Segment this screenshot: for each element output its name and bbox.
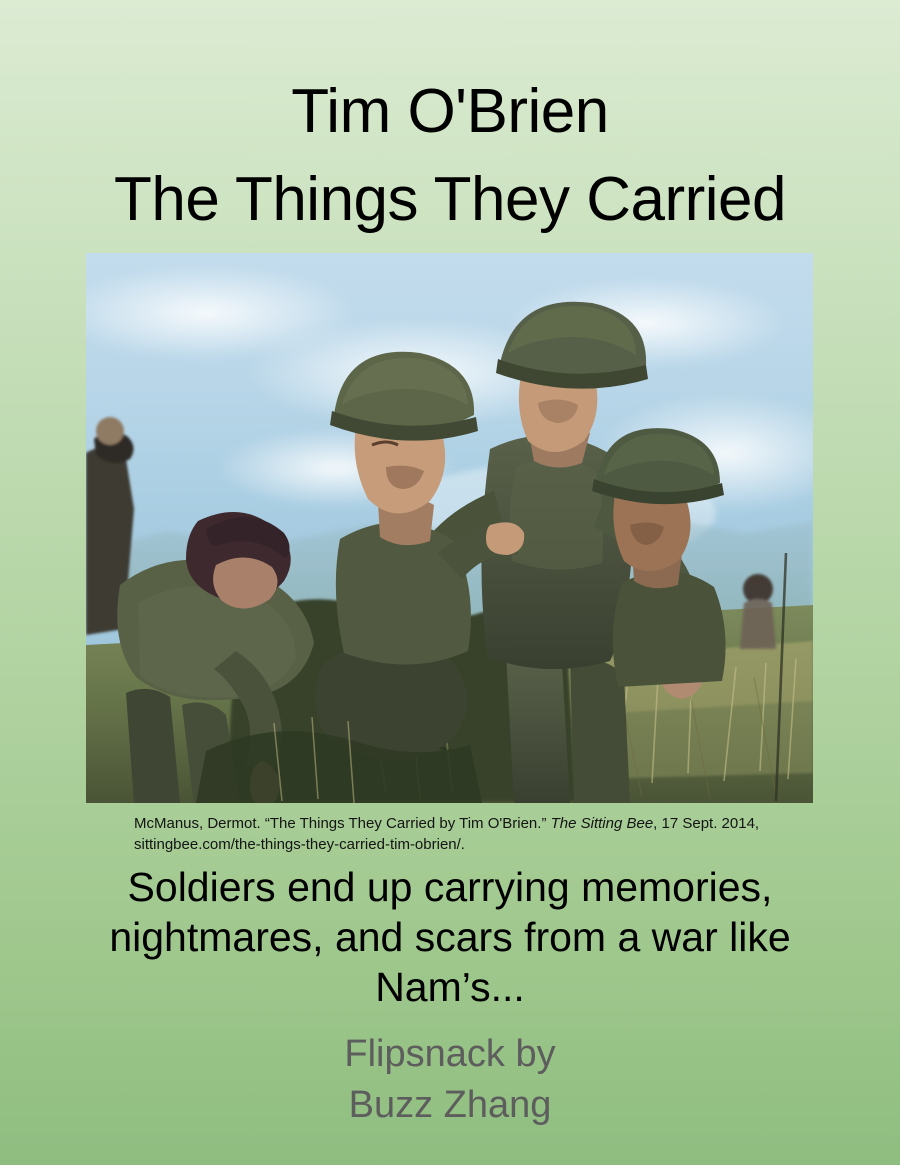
byline-author: Buzz Zhang [0, 1080, 900, 1131]
photo-credit-citation: McManus, Dermot. “The Things They Carrie… [134, 813, 774, 855]
flipbook-cover-page: Tim O'Brien The Things They Carried [0, 0, 900, 1165]
byline: Flipsnack by Buzz Zhang [0, 1029, 900, 1131]
citation-source-title: The Sitting Bee [551, 815, 654, 832]
title-line-book: The Things They Carried [0, 156, 900, 244]
byline-platform: Flipsnack by [0, 1029, 900, 1080]
cover-tagline: Soldiers end up carrying memories, night… [50, 862, 850, 1012]
title-line-author: Tim O'Brien [0, 68, 900, 156]
citation-part-1: McManus, Dermot. “The Things They Carrie… [134, 815, 551, 832]
cover-photo-illustration [86, 253, 813, 803]
cover-photo [86, 253, 813, 803]
page-title: Tim O'Brien The Things They Carried [0, 68, 900, 244]
